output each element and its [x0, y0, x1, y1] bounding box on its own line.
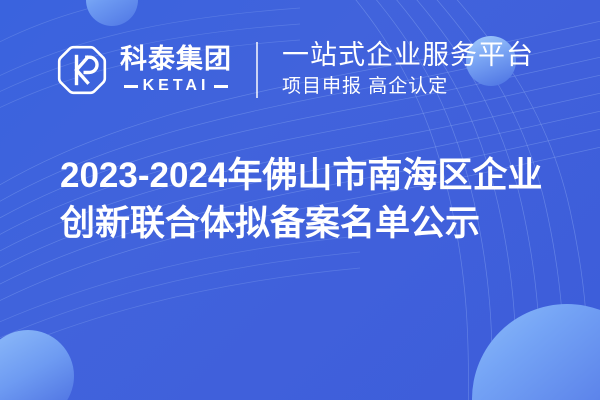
slogan-main-text: 一站式企业服务平台 — [282, 40, 534, 71]
header-divider — [256, 42, 258, 98]
brand-name-en-row: KETAI — [120, 78, 232, 94]
slogan-sub-text: 项目申报 高企认定 — [282, 74, 534, 100]
banner-header: 科泰集团 KETAI 一站式企业服务平台 项目申报 高企认定 — [0, 0, 600, 140]
slogan-block: 一站式企业服务平台 项目申报 高企认定 — [282, 40, 534, 100]
ketai-diamond-kp-monogram-icon — [56, 44, 108, 96]
brand-dash-left-icon — [124, 85, 138, 88]
brand-name-cn: 科泰集团 — [120, 46, 232, 73]
decorative-circle-bottom-left — [0, 330, 74, 400]
brand-logo: 科泰集团 KETAI — [56, 44, 232, 96]
announcement-banner: 科泰集团 KETAI 一站式企业服务平台 项目申报 高企认定 2023-2024… — [0, 0, 600, 400]
brand-dash-right-icon — [214, 85, 228, 88]
page-title: 2023-2024年佛山市南海区企业创新联合体拟备案名单公示 — [60, 152, 560, 248]
brand-name-en: KETAI — [143, 78, 210, 94]
brand-wordmark: 科泰集团 KETAI — [120, 46, 232, 94]
decorative-circle-bottom-right — [472, 304, 600, 400]
